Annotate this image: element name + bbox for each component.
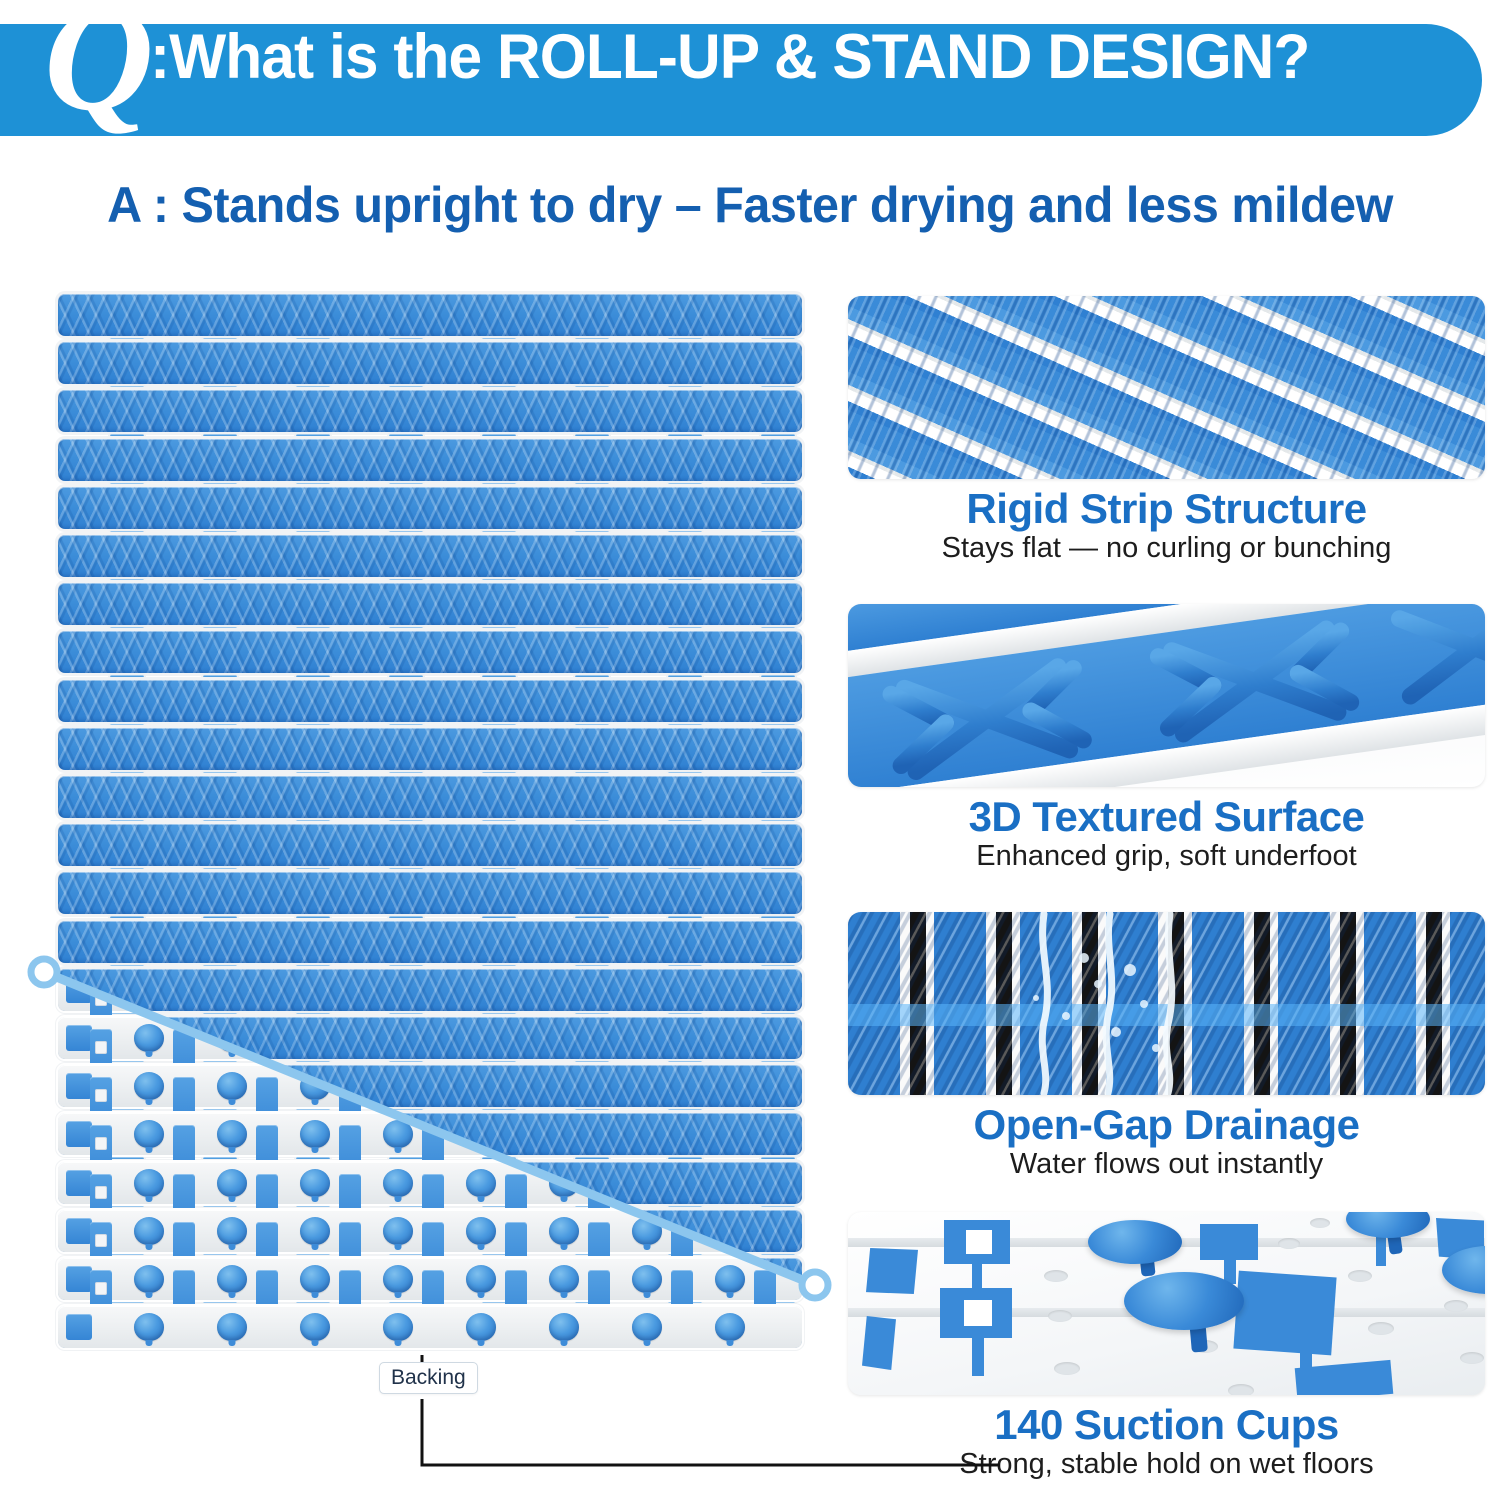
strip-surface [58, 824, 802, 866]
connector-cutout [95, 993, 107, 1006]
suction-cup [383, 1313, 413, 1341]
suction-cup [715, 1265, 745, 1293]
mat-strip [58, 487, 802, 529]
cutout [964, 1300, 992, 1326]
blue-shape [1233, 1271, 1336, 1356]
feature-panel-3d-texture: 3D Textured Surface Enhanced grip, soft … [848, 604, 1500, 873]
suction-cup [217, 1120, 247, 1148]
backing-end-pad [66, 1073, 92, 1099]
suction-cup [632, 1217, 662, 1245]
suction-cup [383, 1120, 413, 1148]
textured-surface-photo [848, 604, 1485, 787]
drain-hole [1310, 1218, 1330, 1228]
blue-shape [1200, 1224, 1258, 1260]
suction-cup [300, 1169, 330, 1197]
suction-cup [549, 1313, 579, 1341]
drain-hole [1278, 1238, 1300, 1249]
suction-cup [300, 1217, 330, 1245]
strip-texture-overlay [848, 296, 1485, 479]
strip-surface [58, 872, 802, 914]
connector-cutout [95, 1186, 107, 1199]
suction-cup [217, 1169, 247, 1197]
texture-closeup-graphic [848, 604, 1485, 787]
suction-cup [466, 1169, 496, 1197]
backing-end-pad [66, 1314, 92, 1340]
bath-mat-product-image [58, 294, 802, 1356]
mat-strip [58, 824, 802, 866]
suction-cup [466, 1265, 496, 1293]
feature-title: 3D Textured Surface [848, 794, 1485, 839]
drain-hole [1228, 1384, 1254, 1395]
suction-cup [300, 1313, 330, 1341]
drain-hole [1444, 1300, 1468, 1312]
drain-hole [1348, 1270, 1372, 1282]
strip-surface [58, 342, 802, 384]
backing-end-pad [66, 1025, 92, 1051]
mat-strip [58, 872, 802, 914]
suction-cup [715, 1313, 745, 1341]
rigid-strip-photo [848, 296, 1485, 479]
connector-cutout [95, 1137, 107, 1150]
mat-strip [58, 294, 802, 336]
strip-surface [58, 728, 802, 770]
suction-cup [632, 1313, 662, 1341]
feature-subtitle: Stays flat — no curling or bunching [848, 533, 1485, 565]
feature-panel-drainage: Open-Gap Drainage Water flows out instan… [848, 912, 1500, 1181]
suction-cup [134, 1024, 164, 1052]
backing-strip [58, 1306, 802, 1348]
strip-surface [58, 969, 802, 1011]
suction-cup [300, 1265, 330, 1293]
mat-strip [58, 776, 802, 818]
connector-cutout [95, 1041, 107, 1054]
feature-panel-rigid-strip: Rigid Strip Structure Stays flat — no cu… [848, 296, 1500, 565]
blue-shape [866, 1248, 918, 1294]
connector [1376, 1236, 1386, 1266]
mat-strip [58, 921, 802, 963]
diagonal-strips-graphic [848, 296, 1485, 479]
strip-surface [58, 583, 802, 625]
suction-cup [1088, 1220, 1182, 1264]
mat-strip [58, 342, 802, 384]
mat-strip [58, 680, 802, 722]
mat-strip [58, 583, 802, 625]
strip-surface [58, 439, 802, 481]
connector [972, 1264, 982, 1290]
suction-cup [549, 1217, 579, 1245]
feature-title: Rigid Strip Structure [848, 486, 1485, 531]
suction-cup [134, 1120, 164, 1148]
mat-strip [58, 439, 802, 481]
suction-cup [134, 1265, 164, 1293]
suction-cup [466, 1217, 496, 1245]
answer-text: A : Stands upright to dry – Faster dryin… [23, 180, 1478, 230]
suction-cup [300, 1120, 330, 1148]
strip-surface [58, 631, 802, 673]
strip-surface [58, 294, 802, 336]
cutout [966, 1230, 992, 1254]
strip-surface [58, 487, 802, 529]
suction-cup [134, 1313, 164, 1341]
suction-cup [383, 1217, 413, 1245]
drain-hole [1054, 1362, 1080, 1375]
question-text: :What is the ROLL-UP & STAND DESIGN? [150, 26, 1309, 89]
strip-surface [58, 921, 802, 963]
suction-cup [549, 1265, 579, 1293]
drainage-photo [848, 912, 1485, 1095]
backing-end-pad [66, 1121, 92, 1147]
backing-end-pad [66, 1218, 92, 1244]
suction-cup [217, 1313, 247, 1341]
suction-cup [632, 1265, 662, 1293]
suction-cup [134, 1217, 164, 1245]
texture-ribs-svg [848, 604, 1485, 787]
drain-hole [1368, 1322, 1394, 1335]
drain-hole [1460, 1352, 1484, 1364]
suction-cup [383, 1169, 413, 1197]
strip-surface [58, 390, 802, 432]
suction-cup [134, 1169, 164, 1197]
suction-cup [1124, 1272, 1244, 1330]
suction-cup [134, 1072, 164, 1100]
strip-surface [58, 680, 802, 722]
suction-cup [466, 1313, 496, 1341]
suction-cup [217, 1217, 247, 1245]
mat-strip [58, 390, 802, 432]
feature-subtitle: Enhanced grip, soft underfoot [848, 841, 1485, 873]
infographic-page: Q :What is the ROLL-UP & STAND DESIGN? A… [0, 0, 1500, 1486]
mat-strip [58, 969, 802, 1011]
suction-cup [383, 1265, 413, 1293]
mat-strip [58, 631, 802, 673]
strip-surface [58, 776, 802, 818]
suction-cup [1346, 1212, 1430, 1238]
mat-strip [58, 535, 802, 577]
connector-cutout [95, 1234, 107, 1247]
connector-cutout [95, 1089, 107, 1102]
drain-hole [1048, 1310, 1072, 1322]
backing-label: Backing [379, 1362, 478, 1394]
drain-hole [1044, 1270, 1068, 1282]
question-mark-q-icon: Q [44, 0, 150, 134]
connector-cutout [95, 1282, 107, 1295]
backing-end-pad [66, 1170, 92, 1196]
strip-surface [58, 535, 802, 577]
backing-end-pad [66, 1266, 92, 1292]
suction-cup [217, 1265, 247, 1293]
mat-strip [58, 728, 802, 770]
feature-title: Open-Gap Drainage [848, 1102, 1485, 1147]
suction-cup [217, 1072, 247, 1100]
feature-subtitle: Water flows out instantly [848, 1149, 1485, 1181]
water-splash-graphic [848, 912, 1485, 1095]
